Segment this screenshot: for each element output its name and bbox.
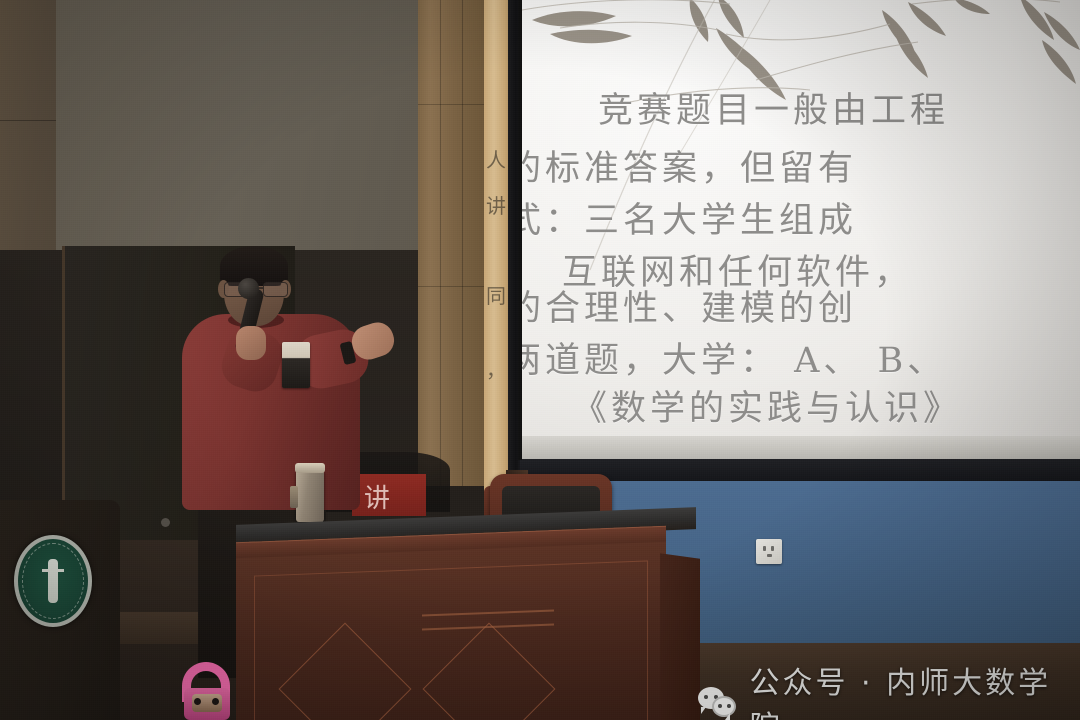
pillar-char-0: 人 <box>486 150 506 170</box>
door-peephole <box>161 518 170 527</box>
watermark-text: 公众号 · 内师大数学院 <box>750 658 1080 720</box>
thermos-handle <box>290 486 298 508</box>
speaker-left-hand <box>236 326 266 360</box>
screen-left-edge <box>518 0 522 460</box>
name-badge <box>282 342 310 388</box>
pillar-char-1: 讲 <box>486 196 506 216</box>
watermark: 公众号 · 内师大数学院 <box>698 658 1080 720</box>
wooden-column <box>418 0 484 486</box>
pillar-char-3: ， <box>486 360 506 380</box>
back-wall-panel <box>56 0 422 252</box>
wall-power-outlet[interactable] <box>756 539 782 564</box>
pillar-char-2: 同 <box>486 286 506 306</box>
photograph-scene: 人 讲 同 ， <box>0 0 1080 720</box>
backpack-eye-left <box>194 698 201 705</box>
emblem-mongolian-script <box>48 559 58 603</box>
slide-line-6: 两道题，大学： A、 B、 <box>520 332 946 383</box>
slide-line-5: 的合理性、建模的创 <box>520 280 857 331</box>
microphone-head <box>238 278 259 299</box>
thermos-cup[interactable] <box>296 470 324 522</box>
slide-line-3: 式：三名大学生组成 <box>520 192 857 243</box>
podium-desk[interactable] <box>236 516 696 720</box>
slide-line-2: 的标准答案，但留有 <box>520 140 857 191</box>
projection-screen: 竞赛题目一般由工程 的标准答案，但留有 式：三名大学生组成 互联网和任何软件， … <box>520 0 1080 436</box>
pink-childrens-backpack[interactable] <box>178 662 234 720</box>
backpack-eye-right <box>212 698 219 705</box>
slide-text-block: 竞赛题目一般由工程 的标准答案，但留有 式：三名大学生组成 互联网和任何软件， … <box>520 0 1080 436</box>
desk-right-side <box>660 553 700 720</box>
thermos-lid <box>295 463 325 473</box>
speaker-figure <box>176 246 376 546</box>
slide-line-7: 《数学的实践与认识》 <box>572 380 962 431</box>
wechat-logo-icon <box>698 687 738 717</box>
university-emblem <box>14 535 92 627</box>
slide-line-1: 竞赛题目一般由工程 <box>598 82 949 133</box>
